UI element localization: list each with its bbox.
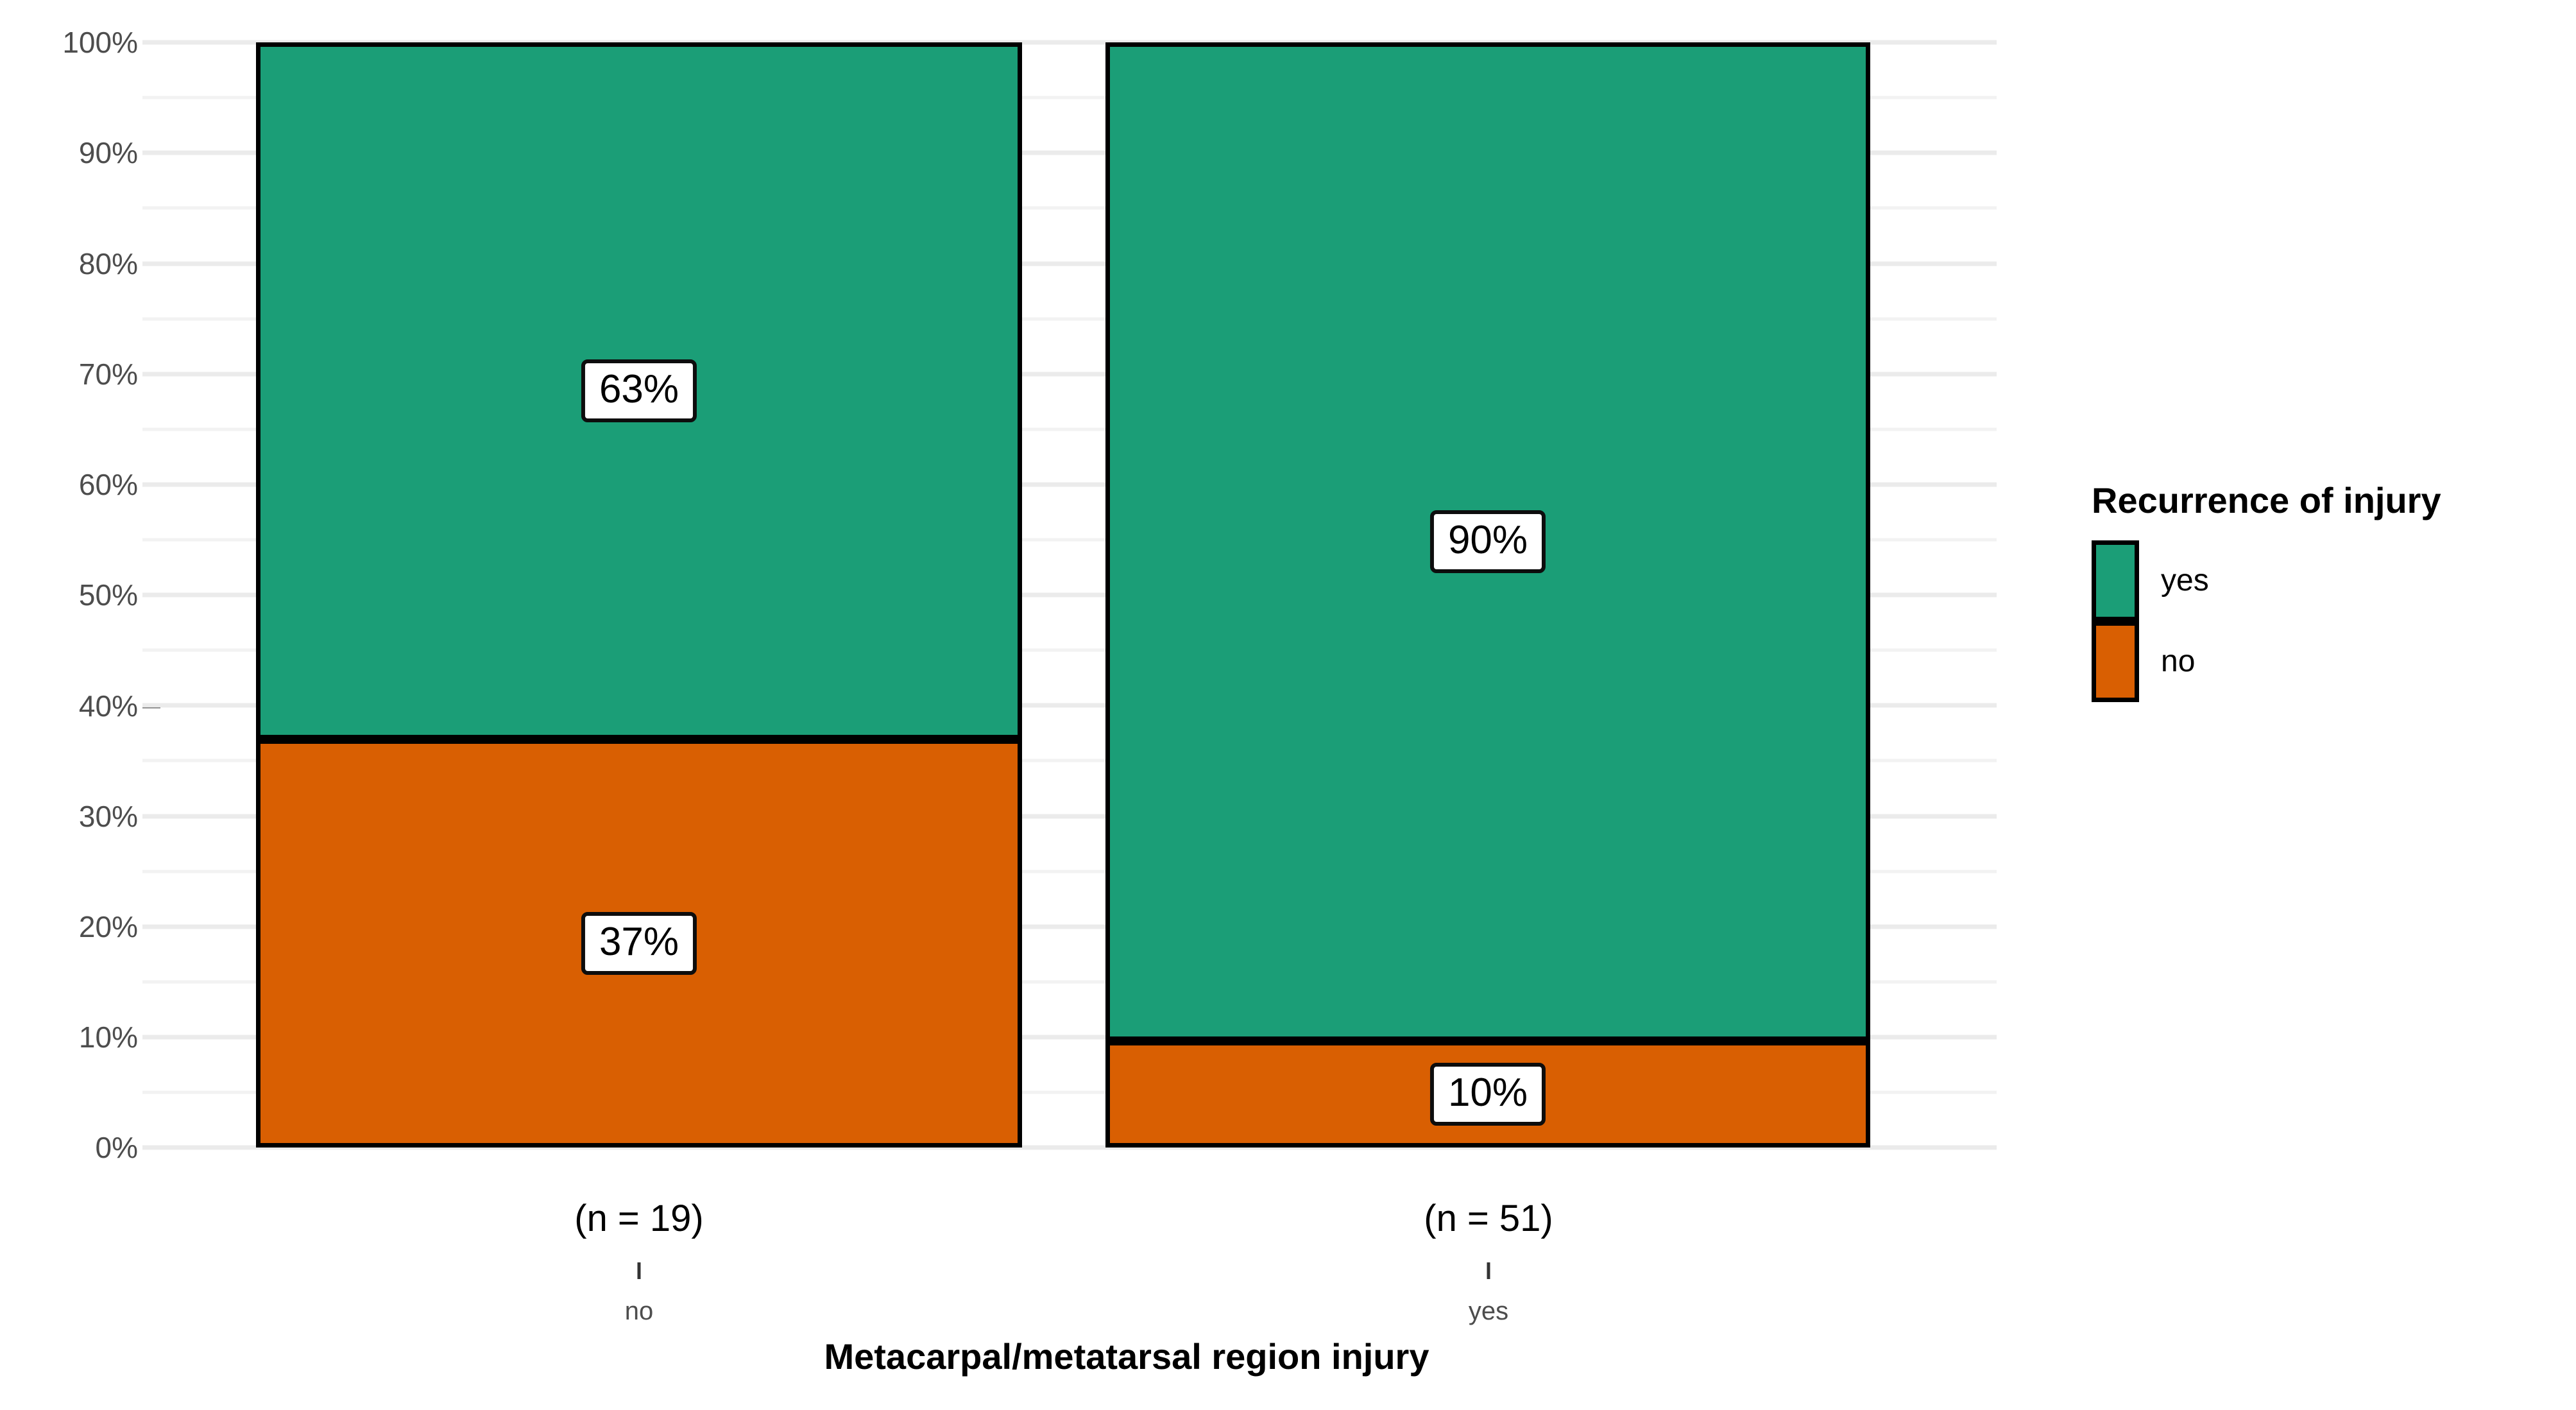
y-tick-label: 80%: [0, 249, 138, 279]
y-tick-label: 90%: [0, 138, 138, 168]
x-tick-label-yes: yes: [1469, 1298, 1508, 1324]
bar-value-label: 10%: [1430, 1063, 1546, 1126]
legend-title: Recurrence of injury: [2092, 483, 2554, 519]
bar-column-no: 63% 37%: [256, 42, 1022, 1148]
y-tick-label: 20%: [0, 912, 138, 941]
x-axis-title: Metacarpal/metatarsal region injury: [824, 1339, 1429, 1375]
stacked-bar-chart: 100% 90% 80% 70% 60% 50% 40% 30% 20% 10%…: [0, 0, 2576, 1410]
y-tick-label: 30%: [0, 802, 138, 831]
bar-value-label: 63%: [581, 359, 697, 422]
bar-segment-yes-no[interactable]: 10%: [1105, 1041, 1870, 1148]
y-tick-label: 70%: [0, 359, 138, 389]
group-count-label-no: (n = 19): [574, 1200, 704, 1237]
bar-segment-yes-yes[interactable]: 90%: [1105, 42, 1870, 1041]
legend-swatch-yes-icon: [2092, 540, 2139, 621]
legend-swatch-no-icon: [2092, 621, 2139, 702]
y-tick-label: 10%: [0, 1022, 138, 1052]
x-tick-mark: [638, 1262, 641, 1279]
legend-label-no: no: [2161, 646, 2195, 677]
bar-value-label: 37%: [581, 912, 697, 975]
x-tick-label-no: no: [625, 1298, 654, 1324]
legend-item-no[interactable]: no: [2092, 621, 2554, 702]
bar-segment-no-yes[interactable]: 63%: [256, 42, 1022, 739]
y-tick-label: 40%: [0, 691, 138, 721]
x-tick-mark: [1487, 1262, 1490, 1279]
y-tick-label: 60%: [0, 470, 138, 499]
y-axis: 100% 90% 80% 70% 60% 50% 40% 30% 20% 10%…: [0, 0, 138, 1410]
bar-segment-no-no[interactable]: 37%: [256, 739, 1022, 1148]
bar-column-yes: 90% 10%: [1105, 42, 1870, 1148]
plot-panel: 63% 37% 90% 10%: [256, 42, 1997, 1148]
y-tick-label: 0%: [0, 1133, 138, 1162]
group-count-label-yes: (n = 51): [1424, 1200, 1553, 1237]
legend-label-yes: yes: [2161, 565, 2209, 596]
legend: Recurrence of injury yes no: [2092, 483, 2554, 702]
y-tick-label: 100%: [0, 28, 138, 57]
y-tick-label: 50%: [0, 580, 138, 610]
legend-item-yes[interactable]: yes: [2092, 540, 2554, 621]
bar-value-label: 90%: [1430, 510, 1546, 573]
